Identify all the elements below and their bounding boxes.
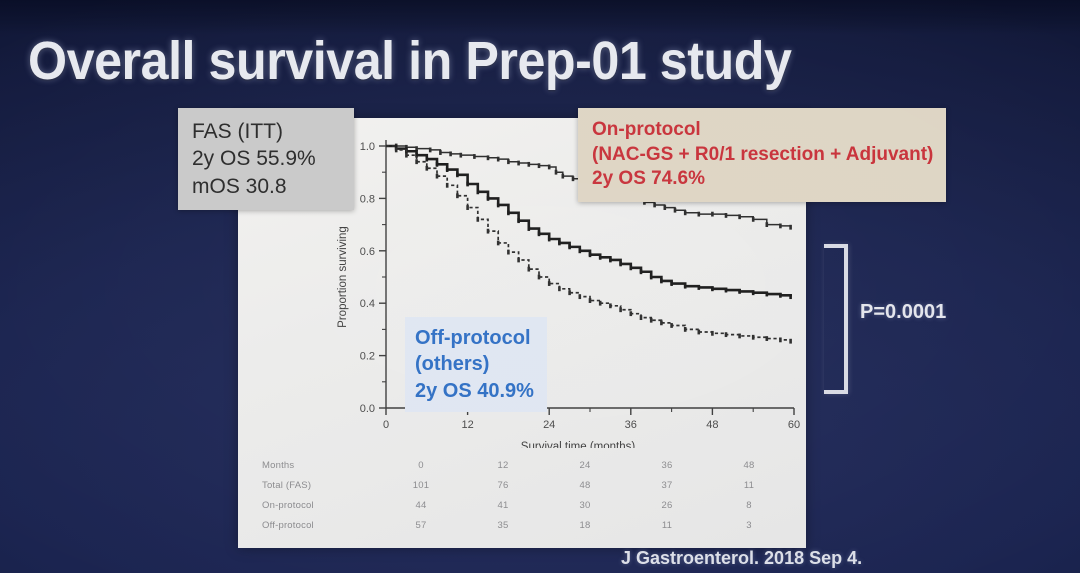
censor-mark — [725, 213, 728, 218]
risk-cell: 35 — [462, 515, 544, 535]
censor-mark — [752, 217, 755, 222]
censor-mark — [487, 155, 490, 160]
censor-mark — [555, 170, 558, 175]
risk-cell: 8 — [708, 495, 790, 515]
censor-mark — [572, 176, 575, 181]
censor-mark — [548, 165, 551, 170]
censor-mark — [436, 162, 439, 167]
censor-mark — [619, 307, 622, 312]
censor-mark — [456, 193, 459, 198]
risk-cell: 0 — [380, 455, 462, 475]
risk-cell: 26 — [626, 495, 708, 515]
censor-mark — [473, 154, 476, 159]
censor-mark — [497, 157, 500, 162]
censor-mark — [579, 294, 582, 299]
censor-mark — [395, 148, 398, 153]
censor-mark — [609, 258, 612, 263]
risk-cell: 11 — [708, 475, 790, 495]
censor-mark — [558, 286, 561, 291]
risk-cell: 36 — [626, 455, 708, 475]
censor-mark — [752, 335, 755, 340]
risk-cell: 11 — [626, 515, 708, 535]
censor-mark — [477, 189, 480, 194]
censor-mark — [528, 162, 531, 167]
censor-mark — [517, 161, 520, 166]
y-tick-label: 1.0 — [360, 141, 375, 153]
numbers-at-risk-table: Months012243648Total (FAS)10176483711On-… — [260, 455, 790, 535]
censor-mark — [446, 183, 449, 188]
x-tick-label: 24 — [543, 419, 555, 431]
censor-mark — [738, 289, 741, 294]
censor-mark — [698, 285, 701, 290]
censor-mark — [568, 244, 571, 249]
censor-mark — [711, 286, 714, 291]
table-row: Total (FAS)10176483711 — [260, 475, 790, 495]
censor-mark — [517, 218, 520, 223]
censor-mark — [507, 159, 510, 164]
censor-mark — [507, 210, 510, 215]
censor-mark — [779, 293, 782, 298]
censor-mark — [650, 318, 653, 323]
censor-mark — [725, 332, 728, 337]
censor-mark — [698, 212, 701, 217]
slide-canvas: Overall survival in Prep-01 study 0.00.2… — [0, 0, 1080, 573]
censor-mark — [779, 224, 782, 229]
censor-mark — [538, 231, 541, 236]
risk-row-label: Total (FAS) — [260, 475, 380, 495]
censor-mark — [449, 151, 452, 156]
censor-mark — [711, 331, 714, 336]
risk-cell: 30 — [544, 495, 626, 515]
risk-cell: 76 — [462, 475, 544, 495]
censor-mark — [415, 159, 418, 164]
censor-mark — [674, 208, 677, 213]
censor-mark — [664, 205, 667, 210]
page-title: Overall survival in Prep-01 study — [28, 33, 791, 89]
censor-mark — [439, 150, 442, 155]
censor-mark — [517, 258, 520, 263]
censor-mark — [789, 225, 792, 230]
risk-cell: 12 — [462, 455, 544, 475]
censor-mark — [630, 265, 633, 270]
censor-mark — [766, 292, 769, 297]
risk-cell: 44 — [380, 495, 462, 515]
censor-mark — [640, 269, 643, 274]
censor-mark — [446, 167, 449, 172]
censor-mark — [466, 205, 469, 210]
censor-mark — [528, 267, 531, 272]
y-tick-label: 0.2 — [360, 351, 375, 363]
censor-mark — [670, 323, 673, 328]
censor-mark — [640, 315, 643, 320]
censor-mark — [436, 174, 439, 179]
censor-mark — [548, 237, 551, 242]
censor-mark — [670, 281, 673, 286]
censor-mark — [738, 214, 741, 219]
risk-cell: 101 — [380, 475, 462, 495]
censor-mark — [660, 320, 663, 325]
censor-mark — [630, 311, 633, 316]
risk-cell: 41 — [462, 495, 544, 515]
x-tick-label: 60 — [788, 419, 800, 431]
callout-off-protocol: Off-protocol (others) 2y OS 40.9% — [405, 317, 547, 412]
table-row: Off-protocol573518113 — [260, 515, 790, 535]
p-value-bracket — [824, 244, 848, 394]
x-tick-label: 48 — [706, 419, 718, 431]
risk-cell: 18 — [544, 515, 626, 535]
censor-mark — [429, 148, 432, 153]
censor-mark — [619, 262, 622, 267]
censor-mark — [538, 275, 541, 280]
censor-mark — [766, 336, 769, 341]
censor-mark — [426, 166, 429, 171]
censor-mark — [725, 288, 728, 293]
censor-mark — [653, 203, 656, 208]
citation-text: J Gastroenterol. 2018 Sep 4. — [621, 548, 862, 569]
x-tick-label: 0 — [383, 419, 389, 431]
risk-cell: 48 — [708, 455, 790, 475]
risk-cell: 24 — [544, 455, 626, 475]
censor-mark — [684, 284, 687, 289]
x-axis-title: Survival time (months) — [521, 441, 636, 448]
censor-mark — [426, 157, 429, 162]
censor-mark — [698, 330, 701, 335]
censor-mark — [507, 250, 510, 255]
callout-fas-itt: FAS (ITT) 2y OS 55.9% mOS 30.8 — [178, 108, 354, 210]
risk-cell: 48 — [544, 475, 626, 495]
censor-mark — [684, 210, 687, 215]
censor-mark — [711, 212, 714, 217]
censor-mark — [684, 327, 687, 332]
x-tick-label: 12 — [461, 419, 473, 431]
censor-mark — [497, 241, 500, 246]
censor-mark — [779, 337, 782, 342]
table-row: On-protocol444130268 — [260, 495, 790, 515]
censor-mark — [497, 203, 500, 208]
risk-cell: 57 — [380, 515, 462, 535]
censor-mark — [466, 182, 469, 187]
censor-mark — [589, 298, 592, 303]
censor-mark — [538, 163, 541, 168]
y-tick-label: 0.4 — [360, 298, 375, 310]
censor-mark — [487, 229, 490, 234]
censor-mark — [548, 281, 551, 286]
y-tick-label: 0.6 — [360, 246, 375, 258]
censor-mark — [609, 303, 612, 308]
censor-mark — [599, 301, 602, 306]
censor-mark — [568, 290, 571, 295]
censor-mark — [456, 172, 459, 177]
censor-mark — [738, 334, 741, 339]
x-tick-label: 36 — [625, 419, 637, 431]
censor-mark — [405, 153, 408, 158]
censor-mark — [589, 252, 592, 257]
censor-mark — [460, 153, 463, 158]
censor-mark — [660, 279, 663, 284]
risk-row-label: On-protocol — [260, 495, 380, 515]
risk-row-label: Months — [260, 455, 380, 475]
censor-mark — [599, 255, 602, 260]
callout-on-protocol: On-protocol (NAC-GS + R0/1 resection + A… — [578, 108, 946, 202]
risk-cell: 3 — [708, 515, 790, 535]
censor-mark — [558, 241, 561, 246]
censor-mark — [528, 226, 531, 231]
censor-mark — [650, 275, 653, 280]
risk-cell: 37 — [626, 475, 708, 495]
risk-row-label: Off-protocol — [260, 515, 380, 535]
y-tick-label: 0.8 — [360, 193, 375, 205]
censor-mark — [789, 294, 792, 299]
censor-mark — [562, 174, 565, 179]
y-tick-label: 0.0 — [360, 403, 375, 415]
censor-mark — [766, 222, 769, 227]
censor-mark — [477, 217, 480, 222]
y-axis-title: Proportion surviving — [337, 226, 349, 328]
censor-mark — [789, 339, 792, 344]
censor-mark — [579, 248, 582, 253]
p-value-label: P=0.0001 — [860, 301, 946, 324]
censor-mark — [487, 196, 490, 201]
table-row: Months012243648 — [260, 455, 790, 475]
censor-mark — [752, 290, 755, 295]
